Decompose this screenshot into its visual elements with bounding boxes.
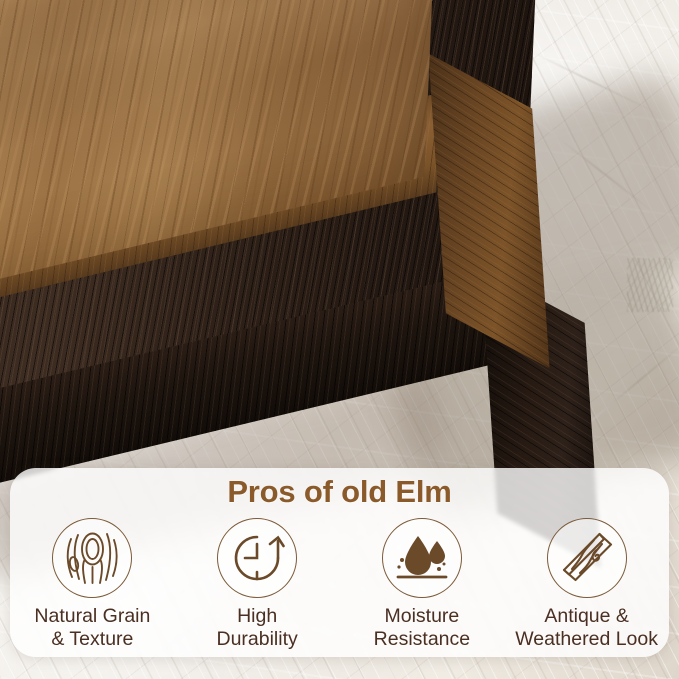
feature-item-high-durability: High Durability: [175, 518, 340, 650]
feature-label: Natural Grain & Texture: [34, 605, 150, 650]
feature-label: High Durability: [216, 605, 297, 650]
card-title: Pros of old Elm: [10, 474, 669, 510]
feature-label: Antique & Weathered Look: [515, 605, 658, 650]
feature-card: Pros of old Elm: [10, 468, 669, 657]
clock-arrow-icon: [217, 518, 297, 598]
wood-plank-icon: [547, 518, 627, 598]
feature-label: Moisture Resistance: [374, 605, 470, 650]
feature-item-antique-weathered: Antique & Weathered Look: [504, 518, 669, 650]
wood-grain-icon: [52, 518, 132, 598]
feature-item-moisture-resistance: Moisture Resistance: [340, 518, 505, 650]
water-droplet-icon: [382, 518, 462, 598]
product-image: Pros of old Elm: [0, 0, 679, 679]
feature-item-natural-grain: Natural Grain & Texture: [10, 518, 175, 650]
feature-list: Natural Grain & Texture High: [10, 518, 669, 650]
